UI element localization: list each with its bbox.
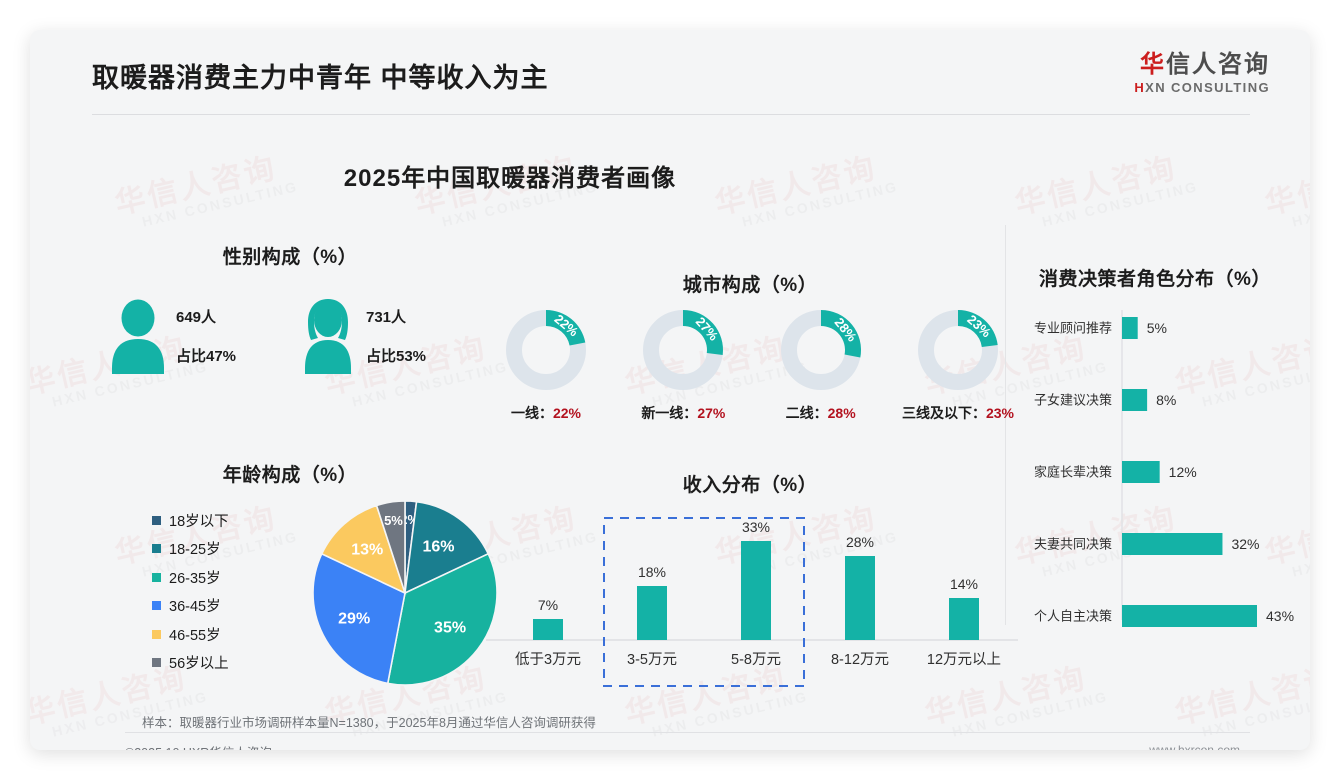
sample-note: 样本：取暖器行业市场调研样本量N=1380，于2025年8月通过华信人咨询调研获…	[142, 712, 596, 731]
chart-subtitle: 2025年中国取暖器消费者画像	[30, 158, 990, 193]
pie-value-label: 35%	[434, 619, 466, 636]
donut-caption: 一线：22%	[482, 403, 610, 423]
watermark: 华信人咨询HXN CONSULTING	[1170, 649, 1310, 744]
income-bar	[845, 556, 875, 640]
donut-gauge: 22%	[498, 302, 594, 398]
legend-item: 56岁以上	[152, 649, 229, 678]
logo-cn-rest: 信人咨询	[1166, 51, 1270, 78]
infographic-card: 华信人咨询HXN CONSULTING华信人咨询HXN CONSULTING华信…	[30, 30, 1310, 750]
income-category-label: 低于3万元	[515, 651, 581, 668]
legend-label: 18-25岁	[169, 538, 221, 559]
gender-item-male: 649人 占比47%	[110, 288, 300, 384]
income-bar-chart: 7%低于3万元18%3-5万元33%5-8万元28%8-12万元14%12万元以…	[482, 500, 1022, 690]
male-stats: 649人 占比47%	[176, 306, 236, 366]
pie-value-label: 5%	[384, 513, 403, 528]
role-category-label: 子女建议决策	[1034, 393, 1112, 408]
gender-composition: 649人 占比47% 731人 占比53%	[110, 288, 490, 384]
role-section-title: 消费决策者角色分布（%）	[1010, 264, 1300, 291]
legend-label: 26-35岁	[169, 567, 221, 588]
female-avatar-icon	[300, 298, 356, 374]
donut-caption: 新一线：27%	[619, 403, 747, 423]
donut-gauge: 23%	[910, 302, 1006, 398]
income-category-label: 3-5万元	[627, 652, 677, 668]
role-bar-value: 8%	[1156, 392, 1176, 408]
income-bar-value: 18%	[638, 564, 666, 580]
role-bar-value: 32%	[1231, 536, 1259, 552]
age-pie-chart: 2%16%35%29%13%5%	[308, 498, 504, 688]
logo-english: HXN CONSULTING	[1134, 80, 1270, 95]
donut-category: 新一线：	[641, 405, 697, 421]
legend-swatch	[152, 630, 161, 639]
donut-category: 一线：	[511, 405, 553, 421]
income-category-label: 12万元以上	[927, 651, 1001, 668]
logo-chinese: 华信人咨询	[1134, 52, 1270, 78]
role-bar	[1122, 389, 1147, 411]
income-category-label: 5-8万元	[731, 652, 781, 668]
logo-cn-highlight: 华	[1140, 51, 1166, 78]
legend-item: 46-55岁	[152, 620, 229, 649]
donut-percent: 27%	[697, 405, 725, 421]
gender-section-title: 性别构成（%）	[70, 242, 510, 269]
header-divider	[92, 114, 1250, 115]
donut-二线: 28%二线：28%	[757, 302, 885, 412]
income-section-title: 收入分布（%）	[480, 470, 1020, 497]
legend-label: 46-55岁	[169, 624, 221, 645]
role-bar	[1122, 461, 1160, 483]
legend-swatch	[152, 544, 161, 553]
watermark: 华信人咨询HXN CONSULTING	[1260, 139, 1310, 234]
gender-item-female: 731人 占比53%	[300, 288, 490, 384]
role-bar-value: 43%	[1266, 608, 1294, 624]
income-bar-value: 7%	[538, 597, 558, 613]
female-count: 731人	[366, 306, 426, 327]
role-category-label: 个人自主决策	[1034, 609, 1112, 624]
legend-item: 18-25岁	[152, 535, 229, 564]
pie-value-label: 16%	[423, 538, 455, 555]
donut-caption: 二线：28%	[757, 403, 885, 423]
donut-percent: 28%	[828, 405, 856, 421]
role-bar	[1122, 533, 1222, 555]
role-bar	[1122, 317, 1138, 339]
decision-role-chart: 专业顾问推荐5%子女建议决策8%家庭长辈决策12%夫妻共同决策32%个人自主决策…	[1010, 300, 1300, 630]
income-bar-value: 14%	[950, 576, 978, 592]
income-bar	[741, 541, 771, 640]
income-bar	[949, 598, 979, 640]
donut-category: 二线：	[786, 405, 828, 421]
role-bar-chart: 专业顾问推荐5%子女建议决策8%家庭长辈决策12%夫妻共同决策32%个人自主决策…	[1010, 300, 1300, 630]
city-composition-charts: 22%一线：22%27%新一线：27%28%二线：28%23%三线及以下：23%	[482, 302, 1022, 412]
role-category-label: 专业顾问推荐	[1034, 321, 1112, 336]
website-url: www.hxrcon.com	[1149, 743, 1240, 750]
legend-swatch	[152, 516, 161, 525]
female-share: 占比53%	[366, 345, 426, 366]
legend-label: 36-45岁	[169, 595, 221, 616]
watermark: 华信人咨询HXN CONSULTING	[1010, 139, 1200, 234]
donut-caption: 三线及以下：23%	[894, 403, 1022, 423]
donut-gauge: 27%	[635, 302, 731, 398]
header: 取暖器消费主力中青年 中等收入为主 华信人咨询 HXN CONSULTING	[30, 30, 1310, 112]
company-logo: 华信人咨询 HXN CONSULTING	[1134, 52, 1270, 95]
donut-percent: 22%	[553, 405, 581, 421]
legend-swatch	[152, 601, 161, 610]
income-bar	[637, 586, 667, 640]
female-stats: 731人 占比53%	[366, 306, 426, 366]
male-avatar-icon	[110, 298, 166, 374]
pie-value-label: 29%	[338, 610, 370, 627]
donut-三线及以下: 23%三线及以下：23%	[894, 302, 1022, 412]
copyright-text: ©2025.10 HXR华信人咨询	[125, 742, 272, 750]
logo-en-highlight: H	[1134, 80, 1145, 95]
city-section-title: 城市构成（%）	[480, 270, 1020, 297]
legend-item: 26-35岁	[152, 563, 229, 592]
male-share: 占比47%	[176, 345, 236, 366]
role-bar	[1122, 605, 1257, 627]
age-composition-chart: 18岁以下18-25岁26-35岁36-45岁46-55岁56岁以上 2%16%…	[90, 498, 510, 690]
male-count: 649人	[176, 306, 236, 327]
legend-label: 56岁以上	[169, 652, 229, 673]
donut-一线: 22%一线：22%	[482, 302, 610, 412]
legend-item: 18岁以下	[152, 506, 229, 535]
role-category-label: 夫妻共同决策	[1034, 537, 1112, 552]
role-bar-value: 12%	[1169, 464, 1197, 480]
footer-divider	[125, 732, 1250, 733]
donut-category: 三线及以下：	[902, 405, 986, 421]
logo-en-rest: XN CONSULTING	[1145, 80, 1270, 95]
legend-swatch	[152, 658, 161, 667]
legend-swatch	[152, 573, 161, 582]
role-bar-value: 5%	[1147, 320, 1167, 336]
donut-新一线: 27%新一线：27%	[619, 302, 747, 412]
income-distribution-chart: 7%低于3万元18%3-5万元33%5-8万元28%8-12万元14%12万元以…	[482, 500, 1022, 690]
income-bar-value: 28%	[846, 534, 874, 550]
income-bar	[533, 619, 563, 640]
income-bar-value: 33%	[742, 519, 770, 535]
income-category-label: 8-12万元	[831, 652, 889, 668]
pie-value-label: 13%	[351, 542, 383, 559]
donut-gauge: 28%	[773, 302, 869, 398]
page-title: 取暖器消费主力中青年 中等收入为主	[92, 56, 549, 95]
legend-label: 18岁以下	[169, 510, 229, 531]
role-category-label: 家庭长辈决策	[1034, 465, 1112, 480]
age-legend: 18岁以下18-25岁26-35岁36-45岁46-55岁56岁以上	[152, 506, 229, 677]
age-section-title: 年龄构成（%）	[70, 460, 510, 487]
legend-item: 36-45岁	[152, 592, 229, 621]
